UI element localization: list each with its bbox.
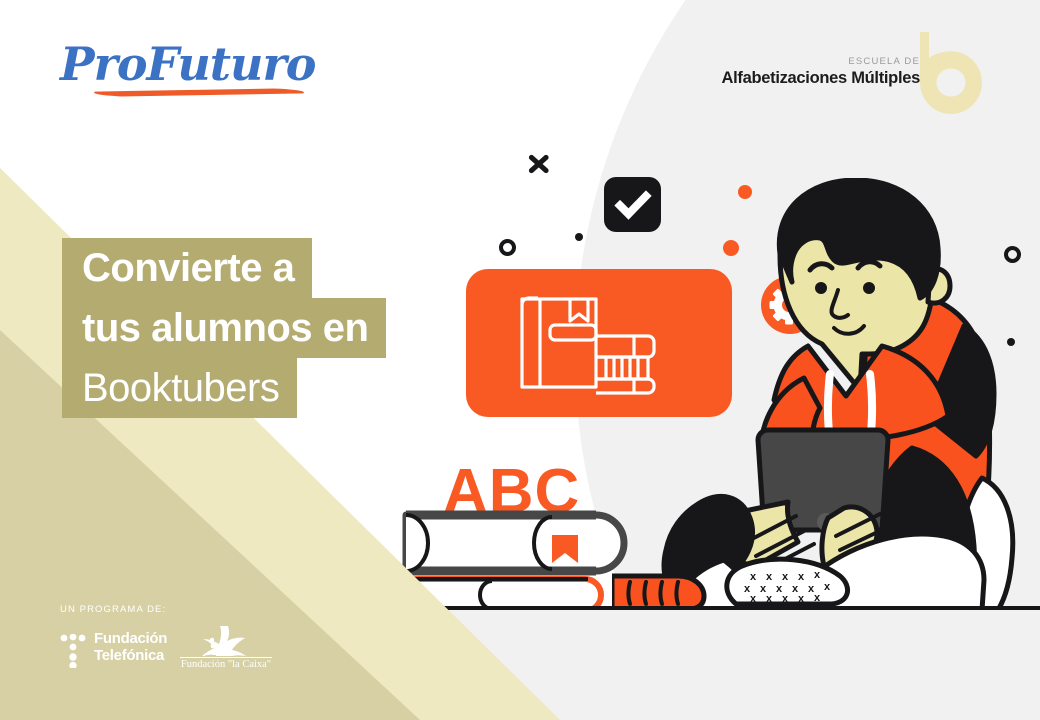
svg-text:x: x — [814, 592, 821, 604]
school-name: Alfabetizaciones Múltiples — [722, 69, 921, 88]
student-with-tablet-illustration: xxx xx xxx xxx xxx xx — [612, 178, 1040, 610]
slide-canvas: ProFuturo ESCUELA DE Alfabetizaciones Mú… — [0, 0, 1040, 720]
svg-text:x: x — [798, 593, 805, 605]
telefonica-line-2: Telefónica — [94, 647, 167, 664]
svg-text:x: x — [814, 569, 821, 581]
small-dot-black-icon — [575, 233, 583, 241]
svg-text:x: x — [798, 571, 805, 583]
ring-dot-left-icon — [499, 239, 516, 256]
fundacion-telefonica-logo[interactable]: Fundación Telefónica — [60, 630, 180, 672]
svg-text:x: x — [750, 571, 757, 583]
profuturo-logo-text: ProFuturo — [60, 38, 320, 90]
headline-line-1: Convierte a — [62, 238, 312, 298]
profuturo-logo[interactable]: ProFuturo — [60, 38, 320, 110]
headline-line-2: tus alumnos en — [62, 298, 386, 358]
fundacion-la-caixa-logo[interactable]: Fundación "la Caixa" — [180, 628, 272, 674]
caixa-star-icon — [196, 626, 256, 656]
headline-line-3: Booktubers — [62, 358, 297, 418]
svg-text:x: x — [750, 593, 757, 605]
escuela-b-mark-icon — [908, 32, 982, 114]
svg-text:x: x — [766, 593, 773, 605]
svg-text:x: x — [824, 581, 831, 593]
telefonica-line-1: Fundación — [94, 630, 167, 647]
headline-block: Convierte a tus alumnos en Booktubers — [62, 238, 386, 418]
caixa-divider — [180, 657, 272, 658]
school-pre-label: ESCUELA DE — [722, 56, 921, 67]
cross-mark-icon — [527, 152, 551, 176]
program-label: UN PROGRAMA DE: — [60, 604, 166, 615]
telefonica-wordmark: Fundación Telefónica — [94, 630, 167, 664]
svg-text:x: x — [782, 593, 789, 605]
svg-text:x: x — [782, 571, 789, 583]
svg-text:x: x — [766, 571, 773, 583]
caixa-caption: Fundación "la Caixa" — [180, 659, 272, 670]
telefonica-dots-icon — [60, 634, 88, 668]
school-lockup: ESCUELA DE Alfabetizaciones Múltiples — [722, 56, 921, 88]
